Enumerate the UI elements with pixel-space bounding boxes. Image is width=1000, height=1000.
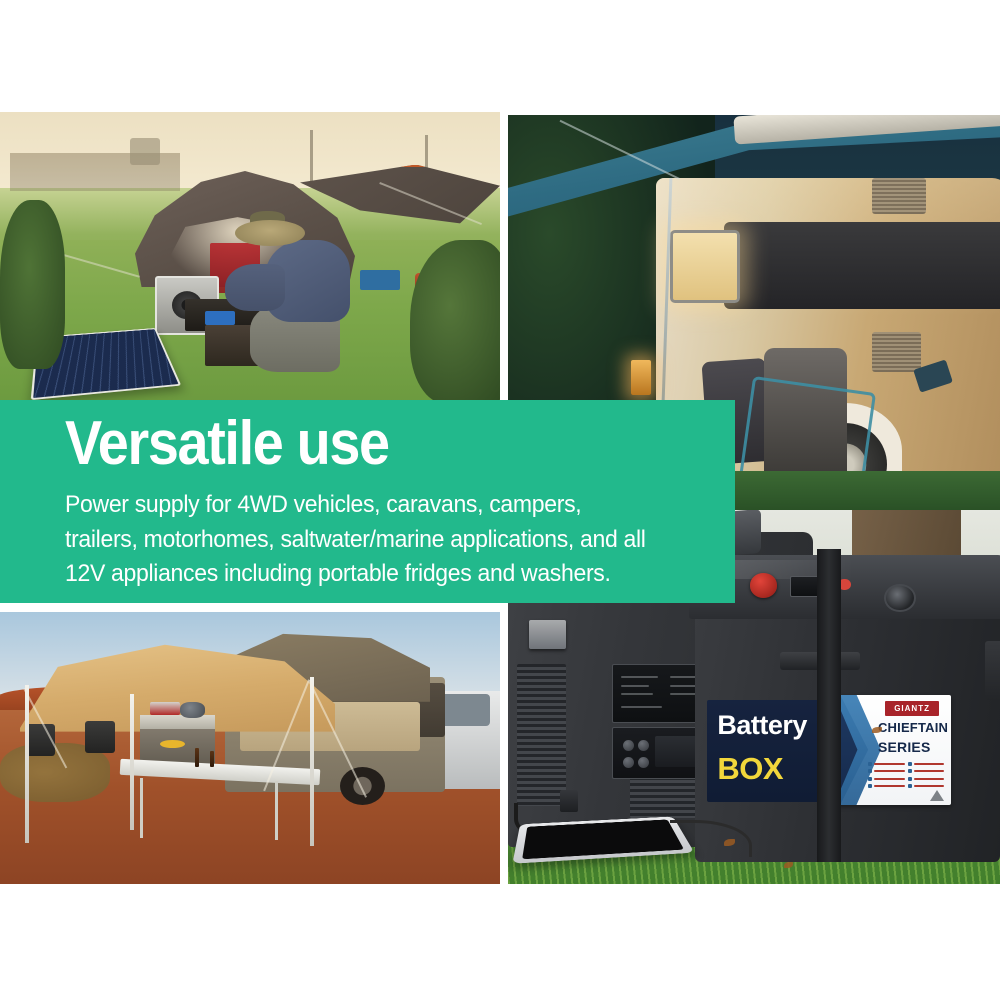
check-icon [868, 777, 872, 781]
check-icon [868, 762, 872, 766]
banner-body-text: Power supply for 4WD vehicles, caravans,… [65, 488, 657, 592]
awning-pole [130, 694, 134, 830]
feature-checklist [868, 761, 944, 790]
hanging-lantern [631, 360, 651, 396]
securing-strap [817, 549, 841, 861]
fridge-up-button[interactable] [623, 740, 634, 751]
red-terminal-knob[interactable] [750, 573, 777, 597]
fridge-latch [529, 620, 566, 648]
side-clip [985, 641, 1000, 700]
person-arm [225, 264, 285, 311]
caravan-window-band [724, 222, 1000, 309]
fridge-display [655, 736, 700, 767]
cooking-appliance [150, 702, 180, 716]
cigarette-lighter-socket[interactable] [884, 584, 915, 612]
battery-label-line1: Battery [717, 710, 807, 741]
check-icon [908, 769, 912, 773]
ute-cab-window [440, 694, 490, 727]
awning-pole [310, 677, 314, 846]
water-tower [130, 138, 160, 164]
fridge-side-vent [517, 664, 566, 805]
shrub-right [410, 240, 500, 404]
blue-device [205, 311, 235, 326]
check-icon [908, 762, 912, 766]
check-icon [908, 784, 912, 788]
photo-outback-camper-trailer [0, 612, 500, 884]
marketing-banner-collage: Battery BOX GIANTZ CHIEFTAIN SERIES [0, 0, 1000, 1000]
photo-camping-tent-solar-panel [0, 112, 500, 404]
fallen-leaf [784, 862, 793, 868]
check-icon [908, 777, 912, 781]
roof-vent [872, 178, 926, 214]
utility-pole [310, 130, 313, 183]
battery-label-line2: BOX [717, 751, 783, 787]
giantz-brand-logo: GIANTZ [885, 701, 939, 715]
tablet-screen [522, 819, 683, 858]
table-leg [275, 781, 278, 841]
bottle [210, 751, 214, 767]
fridge-power-button[interactable] [638, 757, 649, 768]
awning-pole [25, 685, 29, 843]
trailer-wheel [340, 767, 385, 805]
side-vent [872, 332, 921, 372]
fridge-set-button[interactable] [623, 757, 634, 768]
shrub-left [0, 200, 65, 369]
bottle [195, 748, 199, 767]
check-icon [868, 769, 872, 773]
recycling-triangle-icon [930, 790, 944, 801]
versatile-use-banner: Versatile use Power supply for 4WD vehic… [0, 400, 735, 603]
chieftain-series-card: GIANTZ CHIEFTAIN SERIES [829, 695, 951, 805]
chieftain-title-line1: CHIEFTAIN [878, 720, 948, 735]
table-leg [140, 778, 143, 838]
fridge-down-button[interactable] [638, 740, 649, 751]
caravan-lit-window [670, 230, 740, 303]
blue-crate [360, 270, 400, 290]
chieftain-title-line2: SERIES [878, 739, 931, 755]
yellow-bowl [160, 740, 185, 748]
camp-kitchen-bench [140, 715, 215, 729]
banner-heading: Versatile use [65, 412, 389, 476]
check-icon [868, 784, 872, 788]
cooking-pot [180, 702, 205, 718]
battery-box: Battery BOX GIANTZ CHIEFTAIN SERIES [695, 592, 1000, 861]
camp-chair-right [85, 721, 115, 754]
